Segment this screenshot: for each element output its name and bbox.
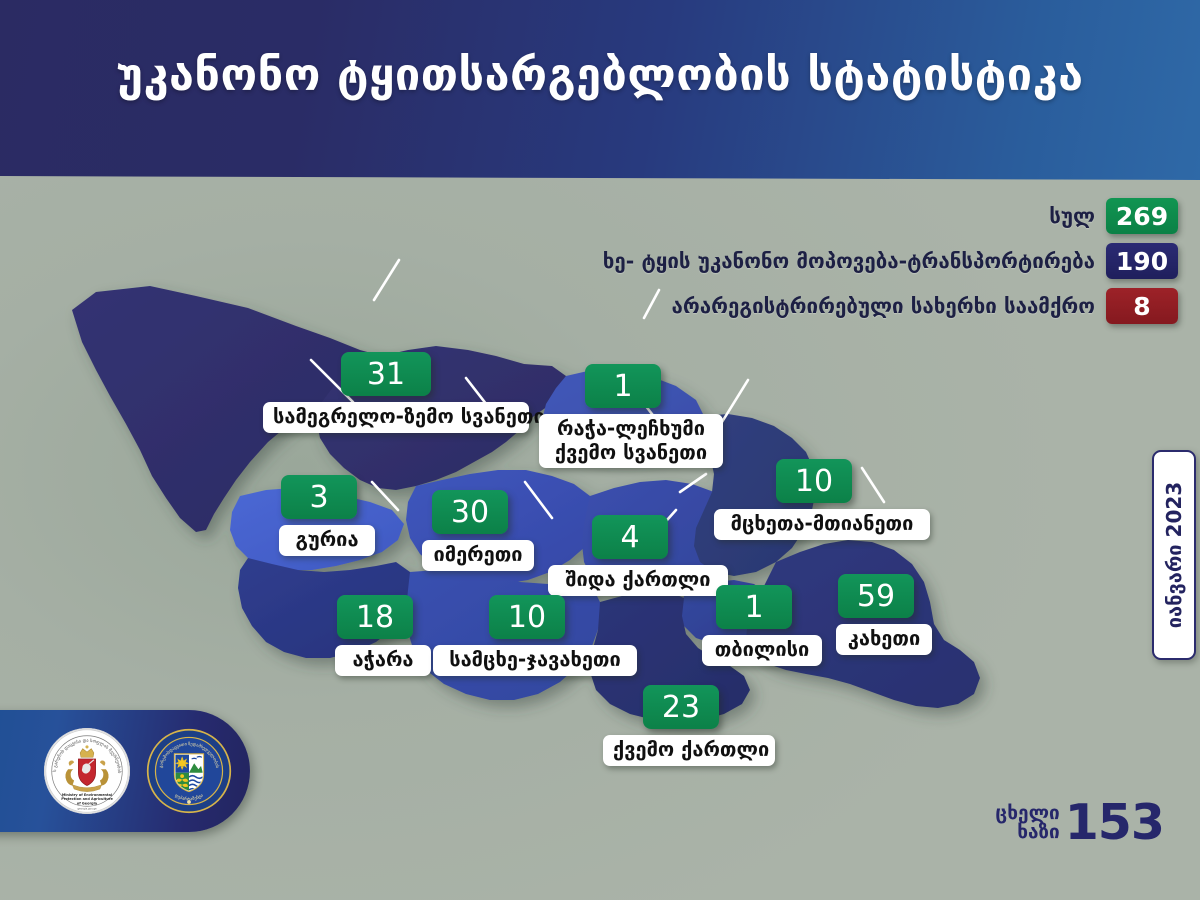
map-marker-samtskhe-javakheti: 10 სამცხე-ჯავახეთი xyxy=(489,595,561,639)
map-label-mtskheta-mtianeti: მცხეთა-მთიანეთი xyxy=(714,509,930,540)
hotline-number: 153 xyxy=(1065,802,1164,844)
map-marker-kvemo-kartli: 23 ქვემო ქართლი xyxy=(643,685,715,729)
map-label-racha-lechkhumi: რაჭა-ლეჩხუმი ქვემო სვანეთი xyxy=(539,414,723,468)
map-label-imereti: იმერეთი xyxy=(422,540,534,571)
logo-bar: საქართველოს გარემოს დაცვისა და სოფლის მე… xyxy=(0,710,250,832)
map-marker-shida-kartli: 4 შიდა ქართლი xyxy=(592,515,664,559)
map-marker-imereti: 30 იმერეთი xyxy=(432,490,504,534)
map-value-shida-kartli: 4 xyxy=(592,515,668,559)
map-label-guria: გურია xyxy=(279,525,375,556)
map-value-adjara: 18 xyxy=(337,595,413,639)
hotline: ცხელი ხაზი 153 xyxy=(995,802,1164,844)
map-label-kakheti: კახეთი xyxy=(836,624,932,655)
svg-text:Protection and Agriculture: Protection and Agriculture xyxy=(61,797,113,801)
environmental-supervision-seal-svg: გარემოსდაცვითი ზედამხედველობის დეპარტამე… xyxy=(146,728,232,814)
map-label-shida-kartli: შიდა ქართლი xyxy=(548,565,728,596)
map-label-racha-line2: ქვემო სვანეთი xyxy=(549,441,713,465)
map-value-guria: 3 xyxy=(281,475,357,519)
ministry-emblem: საქართველოს გარემოს დაცვისა და სოფლის მე… xyxy=(44,728,130,814)
map-label-tbilisi: თბილისი xyxy=(702,635,822,666)
map-value-kakheti: 59 xyxy=(838,574,914,618)
map-value-samegrelo-zemo-svaneti: 31 xyxy=(341,352,431,396)
svg-text:georgia.gov.ge: georgia.gov.ge xyxy=(77,807,97,811)
page-title: უკანონო ტყითსარგებლობის სტატისტიკა xyxy=(0,48,1200,101)
map-value-kvemo-kartli: 23 xyxy=(643,685,719,729)
map-marker-guria: 3 გურია xyxy=(281,475,353,519)
hotline-words: ცხელი ხაზი xyxy=(995,804,1059,842)
leader-line-samegrelo xyxy=(374,260,399,300)
leader-line-racha xyxy=(644,290,659,318)
map-label-adjara: აჭარა xyxy=(335,645,431,676)
map-label-racha-line1: რაჭა-ლეჩხუმი xyxy=(549,417,713,441)
map-marker-mtskheta-mtianeti: 10 მცხეთა-მთიანეთი xyxy=(776,459,848,503)
map-marker-racha-lechkhumi: 1 რაჭა-ლეჩხუმი ქვემო სვანეთი xyxy=(585,364,657,408)
hotline-word-line2: ხაზი xyxy=(995,823,1059,842)
svg-text:of Georgia: of Georgia xyxy=(77,802,98,806)
map-label-kvemo-kartli: ქვემო ქართლი xyxy=(603,735,775,766)
map-marker-tbilisi: 1 თბილისი xyxy=(716,585,788,629)
map-label-samtskhe-javakheti: სამცხე-ჯავახეთი xyxy=(433,645,637,676)
svg-text:Ministry of Environmental: Ministry of Environmental xyxy=(62,793,112,797)
infographic-canvas: უკანონო ტყითსარგებლობის სტატისტიკა სულ 2… xyxy=(0,0,1200,900)
environmental-supervision-seal: გარემოსდაცვითი ზედამხედველობის დეპარტამე… xyxy=(146,728,232,814)
date-badge-label: იანვარი 2023 xyxy=(1162,482,1186,628)
map-marker-kakheti: 59 კახეთი xyxy=(838,574,910,618)
ministry-emblem-svg: საქართველოს გარემოს დაცვისა და სოფლის მე… xyxy=(44,728,130,814)
map-value-imereti: 30 xyxy=(432,490,508,534)
map-marker-samegrelo-zemo-svaneti: 31 სამეგრელო-ზემო სვანეთი xyxy=(341,352,431,396)
map-marker-adjara: 18 აჭარა xyxy=(337,595,409,639)
map-label-samegrelo-zemo-svaneti: სამეგრელო-ზემო სვანეთი xyxy=(263,402,529,433)
date-badge: იანვარი 2023 xyxy=(1152,450,1196,660)
map-value-racha-lechkhumi: 1 xyxy=(585,364,661,408)
leader-line-kakheti xyxy=(862,468,884,502)
map-value-tbilisi: 1 xyxy=(716,585,792,629)
map-value-mtskheta-mtianeti: 10 xyxy=(776,459,852,503)
map-value-samtskhe-javakheti: 10 xyxy=(489,595,565,639)
